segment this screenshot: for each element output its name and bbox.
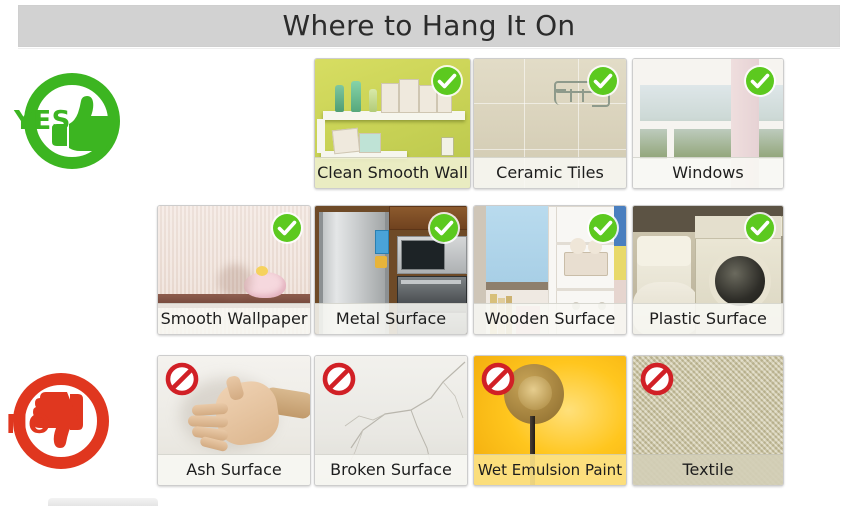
verdict-no-label: NO <box>6 412 51 438</box>
prohibition-badge-icon <box>165 362 199 396</box>
cropped-bottom-element <box>48 498 158 506</box>
card-metal-surface[interactable]: Metal Surface <box>314 205 468 335</box>
card-label: Wooden Surface <box>474 303 626 334</box>
green-check-badge-icon <box>427 211 461 245</box>
green-check-badge-icon <box>270 211 304 245</box>
prohibition-badge-icon <box>640 362 674 396</box>
card-label: Clean Smooth Wall <box>315 157 470 188</box>
page-title: Where to Hang It On <box>18 5 840 47</box>
card-broken-surface[interactable]: Broken Surface <box>314 355 468 486</box>
card-ceramic-tiles[interactable]: Ceramic Tiles <box>473 58 627 189</box>
card-ash-surface[interactable]: Ash Surface <box>157 355 311 486</box>
card-smooth-wallpaper[interactable]: Smooth Wallpaper <box>157 205 311 335</box>
card-clean-smooth-wall[interactable]: Clean Smooth Wall <box>314 58 471 189</box>
page-header-bar: Where to Hang It On <box>18 5 840 47</box>
card-label: Ash Surface <box>158 454 310 485</box>
green-check-badge-icon <box>586 211 620 245</box>
card-plastic-surface[interactable]: Plastic Surface <box>632 205 784 335</box>
green-check-badge-icon <box>586 64 620 98</box>
card-windows[interactable]: Windows <box>632 58 784 189</box>
card-label: Smooth Wallpaper <box>158 303 310 334</box>
card-label: Ceramic Tiles <box>474 157 626 188</box>
verdict-yes: YES <box>6 66 136 176</box>
card-wet-emulsion-paint[interactable]: Wet Emulsion Paint <box>473 355 627 486</box>
card-label: Plastic Surface <box>633 303 783 334</box>
card-textile[interactable]: Textile <box>632 355 784 486</box>
card-label: Metal Surface <box>315 303 467 334</box>
card-label: Wet Emulsion Paint <box>474 454 626 485</box>
verdict-yes-label: YES <box>14 108 71 134</box>
green-check-badge-icon <box>743 211 777 245</box>
verdict-no: NO <box>0 368 130 478</box>
card-label: Textile <box>633 454 783 485</box>
card-wooden-surface[interactable]: Wooden Surface <box>473 205 627 335</box>
header-divider <box>18 48 840 49</box>
card-label: Broken Surface <box>315 454 467 485</box>
prohibition-badge-icon <box>481 362 515 396</box>
green-check-badge-icon <box>743 64 777 98</box>
prohibition-badge-icon <box>322 362 356 396</box>
card-label: Windows <box>633 157 783 188</box>
green-check-badge-icon <box>430 64 464 98</box>
